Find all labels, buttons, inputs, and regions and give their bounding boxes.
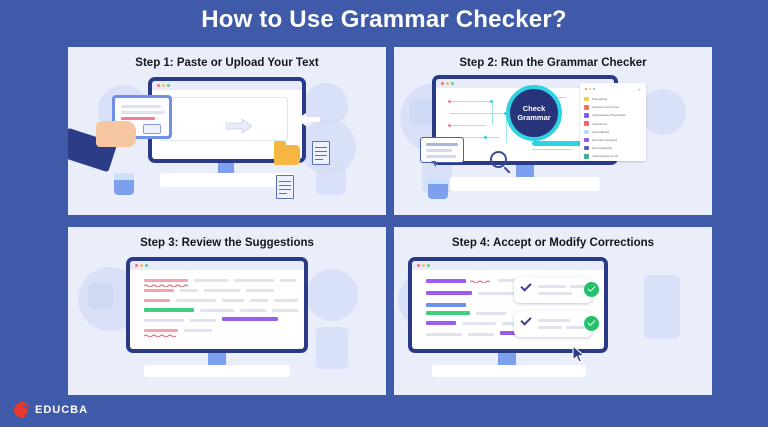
legend-label: Unnecessary Items <box>592 154 618 158</box>
legend-item[interactable]: Generalizing <box>584 128 642 136</box>
legend-item[interactable]: Incorrect verb forms <box>584 103 642 111</box>
decor-shape <box>644 275 680 339</box>
step-card-2: Step 2: Run the Grammar Checker <box>394 47 712 215</box>
minimize-dot-icon <box>140 264 143 267</box>
decor-square <box>88 283 114 309</box>
checkmark-icon <box>520 280 531 291</box>
correction-highlight[interactable] <box>426 291 472 295</box>
step-card-4: Step 4: Accept or Modify Corrections <box>394 227 712 395</box>
step-1-title: Step 1: Paste or Upload Your Text <box>68 57 386 69</box>
step-3-illustration <box>68 253 386 395</box>
legend-titlebar: ✕ <box>584 86 642 93</box>
step-card-1: Step 1: Paste or Upload Your Text <box>68 47 386 215</box>
step-card-3: Step 3: Review the Suggestions <box>68 227 386 395</box>
legend-item[interactable]: Accurate Grouping <box>584 136 642 144</box>
check-grammar-button[interactable]: Check Grammar <box>506 85 562 141</box>
educba-swirl-icon <box>14 402 30 418</box>
monitor-base <box>160 173 294 187</box>
monitor-stand <box>208 353 226 365</box>
search-magnifier-icon[interactable] <box>490 151 507 168</box>
legend-swatch <box>584 97 589 102</box>
minimize-dot-icon <box>589 88 591 90</box>
legend-swatch <box>584 121 589 126</box>
legend-label: Accurate Grouping <box>592 138 618 142</box>
legend-item[interactable]: Unnecessary Preposition <box>584 111 642 119</box>
accept-button[interactable] <box>584 282 599 297</box>
maximize-dot-icon <box>167 84 170 87</box>
window-titlebar <box>130 261 304 270</box>
monitor-stand <box>498 353 516 365</box>
close-dot-icon <box>417 264 420 267</box>
accepted-highlight <box>426 303 466 307</box>
minimize-dot-icon <box>446 82 449 85</box>
pen-cup <box>114 173 134 195</box>
close-dot-icon <box>585 88 587 90</box>
accepted-highlight <box>426 311 470 315</box>
legend-swatch <box>584 105 589 110</box>
accepted-highlight <box>144 308 194 312</box>
legend-label: Unnecessary Preposition <box>592 113 626 117</box>
accept-button[interactable] <box>584 316 599 331</box>
folder-icon[interactable] <box>274 145 300 165</box>
document-icon[interactable] <box>312 141 330 165</box>
minimize-dot-icon <box>422 264 425 267</box>
maximize-dot-icon <box>427 264 430 267</box>
error-category-legend: ✕ Typesetting Incorrect verb forms Unnec… <box>580 83 646 161</box>
pen-cup <box>428 177 448 199</box>
text-preview-bubble <box>420 137 464 163</box>
checkmark-icon <box>520 314 531 325</box>
inbound-arrow-icon <box>296 113 320 126</box>
brand-name: EDUCBA <box>35 404 88 416</box>
suggestion-card[interactable] <box>514 277 592 303</box>
decor-blob <box>640 89 686 135</box>
window-titlebar <box>152 81 302 90</box>
legend-label: Confusions <box>592 122 607 126</box>
grammar-error-underline <box>144 334 180 337</box>
check-grammar-label-line2: Grammar <box>517 113 550 122</box>
legend-swatch <box>584 154 589 159</box>
hand-icon <box>96 121 136 147</box>
infographic-canvas: How to Use Grammar Checker? Step 1: Past… <box>0 0 768 427</box>
suggestion-highlight[interactable] <box>222 317 278 321</box>
maximize-dot-icon <box>145 264 148 267</box>
decor-blob <box>306 269 358 321</box>
monitor-frame <box>408 257 608 353</box>
monitor-stand <box>516 165 534 177</box>
close-dot-icon <box>135 264 138 267</box>
monitor-stand <box>218 163 234 173</box>
step-4-title: Step 4: Accept or Modify Corrections <box>394 237 712 249</box>
monitor-base <box>450 177 600 191</box>
monitor-frame <box>126 257 308 353</box>
correction-highlight[interactable] <box>426 321 456 325</box>
legend-item[interactable]: Confusions <box>584 120 642 128</box>
document-screen <box>130 261 304 349</box>
decor-shape <box>316 327 348 369</box>
check-grammar-label-line1: Check <box>523 104 546 113</box>
minimize-dot-icon <box>162 84 165 87</box>
legend-swatch <box>584 130 589 135</box>
step-4-illustration <box>394 253 712 395</box>
monitor-base <box>432 365 586 377</box>
step-2-illustration: Check Grammar ✕ <box>394 73 712 215</box>
close-dot-icon <box>441 82 444 85</box>
correction-highlight[interactable] <box>426 279 466 283</box>
close-icon[interactable]: ✕ <box>638 87 641 92</box>
legend-label: Generalizing <box>592 130 609 134</box>
transfer-arrow-icon <box>226 119 252 133</box>
legend-swatch <box>584 146 589 151</box>
legend-label: Accompanying <box>592 146 612 150</box>
monitor-base <box>144 365 290 377</box>
legend-label: Incorrect verb forms <box>592 105 620 109</box>
legend-item[interactable]: Unnecessary Items <box>584 152 642 160</box>
step-1-illustration <box>68 73 386 215</box>
suggestion-card[interactable] <box>514 311 592 337</box>
mouse-cursor-icon <box>572 345 586 363</box>
document-upload-icon[interactable] <box>276 175 294 199</box>
legend-item[interactable]: Typesetting <box>584 95 642 103</box>
error-underline <box>470 280 494 283</box>
legend-label: Typesetting <box>592 97 608 101</box>
window-titlebar <box>412 261 604 270</box>
legend-swatch <box>584 138 589 143</box>
close-dot-icon <box>157 84 160 87</box>
page-title: How to Use Grammar Checker? <box>0 6 768 34</box>
text-input-area[interactable] <box>160 97 288 141</box>
legend-swatch <box>584 113 589 118</box>
legend-item[interactable]: Accompanying <box>584 144 642 152</box>
maximize-dot-icon <box>451 82 454 85</box>
step-3-title: Step 3: Review the Suggestions <box>68 237 386 249</box>
maximize-dot-icon <box>593 88 595 90</box>
spelling-error-underline <box>144 284 190 287</box>
educba-logo[interactable]: EDUCBA <box>14 402 88 418</box>
step-2-title: Step 2: Run the Grammar Checker <box>394 57 712 69</box>
